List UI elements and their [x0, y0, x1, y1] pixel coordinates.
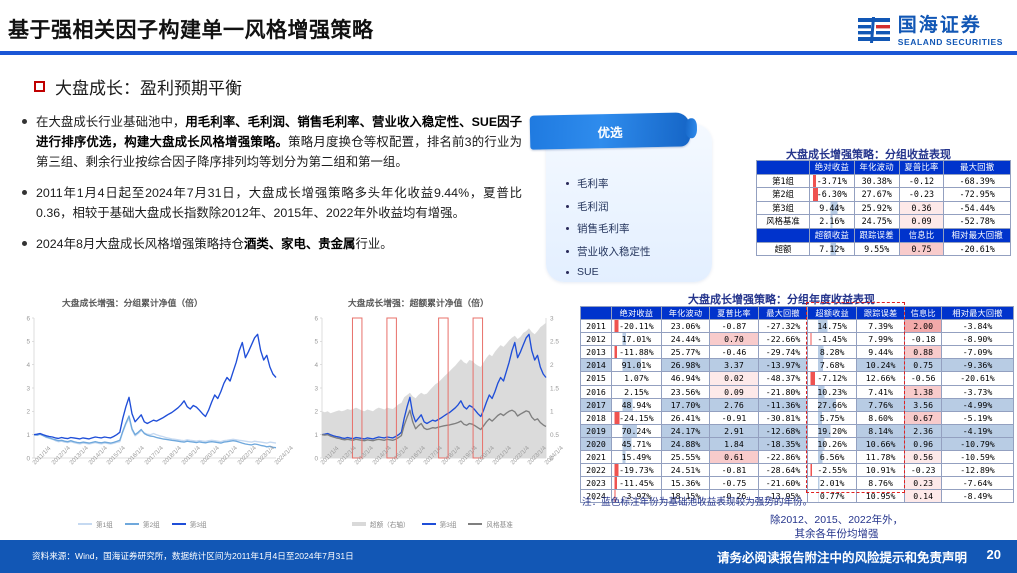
sealand-logo-icon	[857, 16, 891, 46]
factor-list-item: SUE	[566, 266, 651, 278]
table-cell: -7.64%	[941, 477, 1013, 490]
factor-list-item: 销售毛利率	[566, 221, 651, 236]
bullet-item: 2011年1月4日起至2024年7月31日，大盘成长增强策略多头年化收益9.44…	[22, 183, 522, 223]
table-cell: 0.70	[710, 333, 758, 346]
row-year: 2013	[581, 346, 612, 359]
table-cell: 11.78%	[856, 451, 904, 464]
table-cell: 7.41%	[856, 385, 904, 398]
table-row: 201491.01%26.98%3.37-13.97%7.68%10.24%0.…	[581, 359, 1014, 372]
annual-return-table: 绝对收益年化波动夏普比率最大回撤超额收益跟踪误差信息比相对最大回撤2011-20…	[580, 306, 1014, 503]
svg-text:0: 0	[26, 455, 30, 462]
table-cell: 0.77%	[808, 490, 856, 503]
table-cell: 26.98%	[661, 359, 709, 372]
table-cell: 14.75%	[808, 320, 856, 333]
card-ribbon: 优选	[530, 112, 691, 149]
row-label: 超额	[757, 242, 810, 256]
row-year: 2012	[581, 333, 612, 346]
table-cell: -5.19%	[941, 411, 1013, 424]
table-cell: -20.61%	[941, 372, 1013, 385]
footer-disclaimer: 请务必阅读报告附注中的风险提示和免责声明	[717, 547, 967, 566]
column-header: 跟踪误差	[854, 228, 899, 242]
row-year: 2014	[581, 359, 612, 372]
table-cell: 10.26%	[808, 437, 856, 450]
column-header: 绝对收益	[612, 307, 662, 320]
table-cell: -48.37%	[758, 372, 808, 385]
row-label: 第1组	[757, 174, 810, 188]
bullet-dot-icon	[22, 119, 27, 124]
table-cell: -54.44%	[944, 201, 1011, 215]
list-dot-icon	[566, 182, 569, 185]
column-header: 最大回撤	[758, 307, 808, 320]
logo-text-cn: 国海证券	[898, 16, 1003, 35]
table-cell: 5.75%	[808, 411, 856, 424]
list-dot-icon	[566, 271, 569, 274]
page-title: 基于强相关因子构建单一风格增强策略	[8, 14, 374, 44]
table-cell: -6.30%	[810, 188, 855, 202]
column-header	[757, 161, 810, 175]
table-cell: 91.01%	[612, 359, 662, 372]
table-cell: -0.12	[899, 174, 944, 188]
table-cell: 7.68%	[808, 359, 856, 372]
column-header: 相对最大回撤	[944, 228, 1011, 242]
table-cell: -3.71%	[810, 174, 855, 188]
table-cell: 12.66%	[856, 372, 904, 385]
table-row: 2023-11.45%15.36%-0.75-21.60%2.01%8.76%0…	[581, 477, 1014, 490]
table-row: 201970.24%24.17%2.91-12.68%19.20%8.14%2.…	[581, 424, 1014, 437]
table-cell: 2.91	[710, 424, 758, 437]
chart-2: 012345600.511.522.532011/1/42012/1/42013…	[300, 310, 570, 480]
bullet-item: 2024年8月大盘成长风格增强策略持仓酒类、家电、贵金属行业。	[22, 234, 522, 254]
table-cell: 24.17%	[661, 424, 709, 437]
table-cell: -11.88%	[612, 346, 662, 359]
table-cell: 0.36	[899, 201, 944, 215]
table-cell: 8.14%	[856, 424, 904, 437]
table-cell: 0.67	[905, 411, 942, 424]
table-cell: 23.06%	[661, 320, 709, 333]
table-row: 201217.01%24.44%0.70-22.66%-1.45%7.99%-0…	[581, 333, 1014, 346]
table-cell: 17.70%	[661, 398, 709, 411]
svg-text:3: 3	[550, 315, 554, 322]
table-cell: 2.15%	[612, 385, 662, 398]
row-label: 风格基准	[757, 215, 810, 229]
legend-label: 第1组	[96, 519, 113, 529]
table-cell: -0.23	[905, 464, 942, 477]
table-cell: -9.36%	[941, 359, 1013, 372]
legend-swatch	[422, 523, 436, 525]
column-header	[757, 228, 810, 242]
table-cell: -24.15%	[612, 411, 662, 424]
factor-name: 营业收入稳定性	[577, 244, 651, 259]
svg-text:2: 2	[26, 409, 30, 416]
table-cell: -3.84%	[941, 320, 1013, 333]
svg-text:4: 4	[26, 362, 30, 369]
bullet-segment: 酒类、家电、贵金属	[244, 237, 356, 251]
table-cell: 48.94%	[612, 398, 662, 411]
table-cell: 2.01%	[808, 477, 856, 490]
table-cell: -8.49%	[941, 490, 1013, 503]
table-cell: 10.66%	[856, 437, 904, 450]
table-cell: -21.80%	[758, 385, 808, 398]
table-row: 2022-19.73%24.51%-0.81-28.64%-2.55%10.91…	[581, 464, 1014, 477]
table-header-row: 绝对收益年化波动夏普比率最大回撤	[757, 161, 1011, 175]
table-row: 2011-20.11%23.06%-0.87-27.32%14.75%7.39%…	[581, 320, 1014, 333]
table-row: 第2组-6.30%27.67%-0.23-72.95%	[757, 188, 1011, 202]
table-cell: -0.18	[905, 333, 942, 346]
factor-name: 销售毛利率	[577, 221, 630, 236]
legend-label: 第3组	[440, 519, 457, 529]
table-cell: 7.99%	[856, 333, 904, 346]
table-row: 第3组9.44%25.92%0.36-54.44%	[757, 201, 1011, 215]
table-cell: -19.73%	[612, 464, 662, 477]
table-cell: -30.81%	[758, 411, 808, 424]
table-cell: 27.67%	[854, 188, 899, 202]
row-year: 2018	[581, 411, 612, 424]
legend-item: 风格基准	[468, 519, 512, 529]
table-cell: -13.97%	[758, 359, 808, 372]
table-cell: 25.92%	[854, 201, 899, 215]
legend-label: 风格基准	[486, 519, 512, 529]
svg-text:2: 2	[314, 409, 318, 416]
factor-list: 毛利率毛利润销售毛利率营业收入稳定性SUE	[566, 176, 651, 286]
table-cell: -7.09%	[941, 346, 1013, 359]
table-cell: -0.56	[905, 372, 942, 385]
table-cell: 0.02	[710, 372, 758, 385]
bullet-segment: 2011年1月4日起至2024年7月31日，大盘成长增强策略多头年化收益9.44…	[36, 186, 522, 220]
table-cell: 8.28%	[808, 346, 856, 359]
row-year: 2019	[581, 424, 612, 437]
table-row: 2013-11.88%25.77%-0.46-29.74%8.28%9.44%0…	[581, 346, 1014, 359]
legend-item: 第2组	[125, 519, 160, 529]
table-cell: 27.66%	[808, 398, 856, 411]
table-cell: -10.59%	[941, 451, 1013, 464]
table-cell: 24.75%	[854, 215, 899, 229]
company-logo: 国海证券 SEALAND SECURITIES	[857, 16, 1003, 47]
table-cell: 0.61	[710, 451, 758, 464]
legend-swatch	[78, 523, 92, 525]
row-label: 第3组	[757, 201, 810, 215]
table-cell: 7.76%	[856, 398, 904, 411]
column-header: 绝对收益	[810, 161, 855, 175]
svg-text:2: 2	[550, 362, 554, 369]
table-row: 201748.94%17.70%2.76-11.36%27.66%7.76%3.…	[581, 398, 1014, 411]
table-cell: -0.91	[710, 411, 758, 424]
table-cell: 19.20%	[808, 424, 856, 437]
card-ribbon-label: 优选	[597, 121, 622, 141]
table-row: 2018-24.15%26.41%-0.91-30.81%5.75%8.60%0…	[581, 411, 1014, 424]
table-cell: 25.55%	[661, 451, 709, 464]
legend-label: 第2组	[143, 519, 160, 529]
factor-list-item: 营业收入稳定性	[566, 244, 651, 259]
annual-table-note: 注：蓝色标注年份为基础池收益表现较为强势的年份。	[582, 494, 812, 508]
table-cell: 2.00	[905, 320, 942, 333]
logo-text-en: SEALAND SECURITIES	[898, 38, 1003, 47]
table-cell: 9.44%	[810, 201, 855, 215]
table-row: 超额7.12%9.55%0.75-20.61%	[757, 242, 1011, 256]
chart-2-title: 大盘成长增强：超额累计净值（倍）	[348, 296, 489, 309]
slide-header: 基于强相关因子构建单一风格增强策略 国海证券 SEALAND SECURITIE…	[0, 0, 1017, 56]
column-header: 夏普比率	[710, 307, 758, 320]
table-cell: 9.55%	[854, 242, 899, 256]
table-cell: 0.88	[905, 346, 942, 359]
table-cell: 46.94%	[661, 372, 709, 385]
title-divider	[0, 51, 1017, 55]
svg-text:1: 1	[550, 409, 554, 416]
chart-1-title: 大盘成长增强：分组累计净值（倍）	[62, 296, 203, 309]
table-cell: -21.60%	[758, 477, 808, 490]
row-year: 2021	[581, 451, 612, 464]
table-cell: 0.23	[905, 477, 942, 490]
table-cell: -68.39%	[944, 174, 1011, 188]
table-cell: -22.66%	[758, 333, 808, 346]
table-cell: 10.23%	[808, 385, 856, 398]
table-cell: 0.14	[905, 490, 942, 503]
table-cell: 24.51%	[661, 464, 709, 477]
table-cell: -52.78%	[944, 215, 1011, 229]
svg-text:0.5: 0.5	[550, 432, 559, 439]
table-cell: -29.74%	[758, 346, 808, 359]
page-number: 20	[987, 547, 1001, 562]
table-row: 20162.15%23.56%0.09-21.80%10.23%7.41%1.3…	[581, 385, 1014, 398]
table-cell: 0.56	[905, 451, 942, 464]
table-cell: 0.09	[899, 215, 944, 229]
table-cell: -20.61%	[944, 242, 1011, 256]
column-header: 跟踪误差	[856, 307, 904, 320]
column-header: 超额收益	[810, 228, 855, 242]
annual-table-callout: 除2012、2015、2022年外， 其余各年份均增强	[770, 513, 903, 542]
callout-line-1: 除2012、2015、2022年外，	[770, 513, 903, 527]
footer-source: 资料来源：Wind，国海证券研究所，数据统计区间为2011年1月4日至2024年…	[32, 550, 354, 562]
bullet-dot-icon	[22, 241, 27, 246]
table-cell: -28.64%	[758, 464, 808, 477]
legend-swatch	[172, 523, 186, 525]
list-dot-icon	[566, 250, 569, 253]
table-cell: 7.12%	[810, 242, 855, 256]
svg-text:3: 3	[26, 385, 30, 392]
factor-card: 优选 毛利率毛利润销售毛利率营业收入稳定性SUE	[546, 124, 712, 282]
legend-item: 第3组	[172, 519, 207, 529]
table-cell: 0.96	[905, 437, 942, 450]
table-row: 风格基准2.16%24.75%0.09-52.78%	[757, 215, 1011, 229]
row-year: 2023	[581, 477, 612, 490]
group-return-table-wrap: 绝对收益年化波动夏普比率最大回撤第1组-3.71%30.38%-0.12-68.…	[756, 160, 1011, 256]
bullet-item: 在大盘成长行业基础池中，用毛利率、毛利润、销售毛利率、营业收入稳定性、SUE因子…	[22, 112, 522, 172]
table-cell: 2.16%	[810, 215, 855, 229]
table-cell: 6.56%	[808, 451, 856, 464]
table-cell: 70.24%	[612, 424, 662, 437]
table-header-row: 超额收益跟踪误差信息比相对最大回撤	[757, 228, 1011, 242]
row-year: 2022	[581, 464, 612, 477]
column-header: 最大回撤	[944, 161, 1011, 175]
bullet-text: 2011年1月4日起至2024年7月31日，大盘成长增强策略多头年化收益9.44…	[36, 183, 522, 223]
section-title: 大盘成长：盈利预期平衡	[55, 74, 242, 99]
svg-text:5: 5	[314, 339, 318, 346]
table-row: 第1组-3.71%30.38%-0.12-68.39%	[757, 174, 1011, 188]
table-row: 202115.49%25.55%0.61-22.86%6.56%11.78%0.…	[581, 451, 1014, 464]
svg-text:5: 5	[26, 339, 30, 346]
table-cell: -18.35%	[758, 437, 808, 450]
section-heading: 大盘成长：盈利预期平衡	[34, 74, 242, 99]
table-cell: 10.95%	[856, 490, 904, 503]
table-cell: 8.60%	[856, 411, 904, 424]
factor-list-item: 毛利润	[566, 199, 651, 214]
legend-swatch	[352, 522, 366, 526]
table-header-row: 绝对收益年化波动夏普比率最大回撤超额收益跟踪误差信息比相对最大回撤	[581, 307, 1014, 320]
legend-swatch	[468, 523, 482, 525]
bullet-segment: 行业。	[355, 237, 392, 251]
factor-name: SUE	[577, 266, 599, 278]
row-year: 2011	[581, 320, 612, 333]
table-cell: 0.75	[899, 242, 944, 256]
legend-item: 第1组	[78, 519, 113, 529]
table-cell: 1.07%	[612, 372, 662, 385]
factor-list-item: 毛利率	[566, 176, 651, 191]
table-cell: -72.95%	[944, 188, 1011, 202]
table-cell: -7.12%	[808, 372, 856, 385]
bullet-segment: 2024年8月大盘成长风格增强策略持仓	[36, 237, 244, 251]
table-cell: 3.37	[710, 359, 758, 372]
svg-text:2.5: 2.5	[550, 339, 559, 346]
legend-item: 第3组	[422, 519, 457, 529]
table-cell: -12.68%	[758, 424, 808, 437]
table-cell: -4.99%	[941, 398, 1013, 411]
svg-text:1.5: 1.5	[550, 385, 559, 392]
svg-text:6: 6	[314, 315, 318, 322]
table-cell: 8.76%	[856, 477, 904, 490]
row-label: 第2组	[757, 188, 810, 202]
bullet-list: 在大盘成长行业基础池中，用毛利率、毛利润、销售毛利率、营业收入稳定性、SUE因子…	[22, 112, 522, 266]
table-cell: -11.45%	[612, 477, 662, 490]
row-year: 2017	[581, 398, 612, 411]
table-cell: -0.87	[710, 320, 758, 333]
table-cell: -12.89%	[941, 464, 1013, 477]
table-cell: 15.36%	[661, 477, 709, 490]
table-cell: 3.56	[905, 398, 942, 411]
table-cell: 45.71%	[612, 437, 662, 450]
table-cell: 0.09	[710, 385, 758, 398]
table-cell: 7.39%	[856, 320, 904, 333]
svg-text:1: 1	[314, 432, 318, 439]
table-row: 202045.71%24.88%1.84-18.35%10.26%10.66%0…	[581, 437, 1014, 450]
square-bullet-icon	[34, 81, 45, 92]
list-dot-icon	[566, 227, 569, 230]
list-dot-icon	[566, 205, 569, 208]
column-header: 信息比	[905, 307, 942, 320]
bullet-dot-icon	[22, 190, 27, 195]
svg-text:3: 3	[314, 385, 318, 392]
table-cell: 17.01%	[612, 333, 662, 346]
svg-text:6: 6	[26, 315, 30, 322]
chart-1: 01234562011/1/42012/1/42013/1/42014/1/42…	[12, 310, 282, 480]
row-year: 2015	[581, 372, 612, 385]
table-cell: 26.41%	[661, 411, 709, 424]
table-cell: 2.76	[710, 398, 758, 411]
table-cell: -27.32%	[758, 320, 808, 333]
column-header: 超额收益	[808, 307, 856, 320]
table-cell: 10.24%	[856, 359, 904, 372]
table-cell: -0.46	[710, 346, 758, 359]
table-cell: 1.38	[905, 385, 942, 398]
table-cell: 10.91%	[856, 464, 904, 477]
row-year: 2020	[581, 437, 612, 450]
table-cell: -3.73%	[941, 385, 1013, 398]
chart-2-legend: 超额（右轴）第3组风格基准	[352, 519, 513, 529]
annual-return-table-caption: 大盘成长增强策略：分组年度收益表现	[688, 291, 875, 307]
table-cell: -11.36%	[758, 398, 808, 411]
table-cell: -0.75	[710, 477, 758, 490]
bullet-text: 在大盘成长行业基础池中，用毛利率、毛利润、销售毛利率、营业收入稳定性、SUE因子…	[36, 112, 522, 172]
table-cell: -8.90%	[941, 333, 1013, 346]
svg-text:0: 0	[314, 455, 318, 462]
svg-text:1: 1	[26, 432, 30, 439]
table-cell: 0.75	[905, 359, 942, 372]
row-year: 2016	[581, 385, 612, 398]
table-row: 20151.07%46.94%0.02-48.37%-7.12%12.66%-0…	[581, 372, 1014, 385]
legend-item: 超额（右轴）	[352, 519, 410, 529]
column-header: 年化波动	[661, 307, 709, 320]
table-cell: 1.84	[710, 437, 758, 450]
column-header	[581, 307, 612, 320]
column-header: 夏普比率	[899, 161, 944, 175]
group-return-table: 绝对收益年化波动夏普比率最大回撤第1组-3.71%30.38%-0.12-68.…	[756, 160, 1011, 256]
table-cell: 9.44%	[856, 346, 904, 359]
table-cell: 23.56%	[661, 385, 709, 398]
chart-1-legend: 第1组第2组第3组	[78, 519, 207, 529]
table-cell: -4.19%	[941, 424, 1013, 437]
legend-label: 超额（右轴）	[370, 519, 410, 529]
table-cell: 24.44%	[661, 333, 709, 346]
factor-name: 毛利率	[577, 176, 609, 191]
table-cell: -0.23	[899, 188, 944, 202]
table-cell: -22.86%	[758, 451, 808, 464]
legend-label: 第3组	[190, 519, 207, 529]
factor-name: 毛利润	[577, 199, 609, 214]
table-cell: -1.45%	[808, 333, 856, 346]
slide-footer: 资料来源：Wind，国海证券研究所，数据统计区间为2011年1月4日至2024年…	[0, 540, 1017, 573]
column-header: 年化波动	[854, 161, 899, 175]
legend-swatch	[125, 523, 139, 525]
table-cell: 2.36	[905, 424, 942, 437]
table-cell: -2.55%	[808, 464, 856, 477]
table-cell: 15.49%	[612, 451, 662, 464]
bullet-text: 2024年8月大盘成长风格增强策略持仓酒类、家电、贵金属行业。	[36, 234, 393, 254]
bullet-segment: 在大盘成长行业基础池中，	[36, 115, 185, 129]
table-cell: -10.79%	[941, 437, 1013, 450]
column-header: 相对最大回撤	[941, 307, 1013, 320]
table-cell: 30.38%	[854, 174, 899, 188]
table-cell: -0.81	[710, 464, 758, 477]
table-cell: -20.11%	[612, 320, 662, 333]
column-header: 信息比	[899, 228, 944, 242]
annual-return-table-wrap: 绝对收益年化波动夏普比率最大回撤超额收益跟踪误差信息比相对最大回撤2011-20…	[580, 306, 1014, 503]
svg-text:4: 4	[314, 362, 318, 369]
table-cell: 25.77%	[661, 346, 709, 359]
table-cell: 24.88%	[661, 437, 709, 450]
